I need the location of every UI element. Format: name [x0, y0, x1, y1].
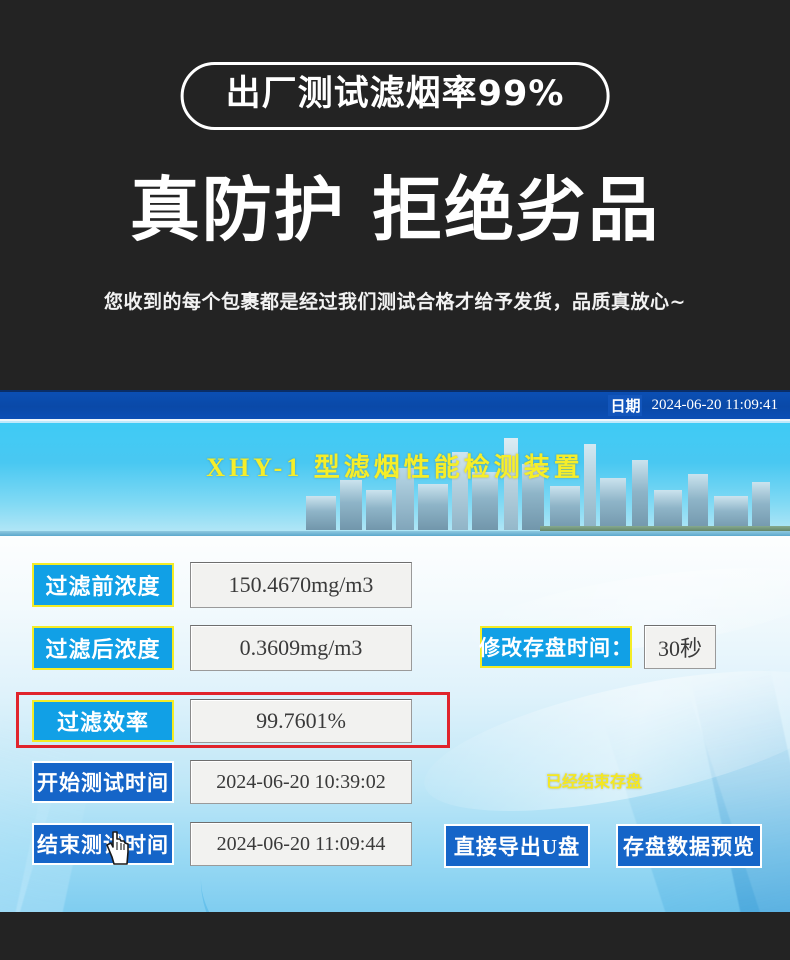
- value-test-end-time[interactable]: 2024-06-20 11:09:44: [190, 822, 412, 866]
- row-test-start-time: 开始测试时间 2024-06-20 10:39:02: [32, 760, 412, 804]
- status-message: 已经结束存盘: [546, 768, 642, 792]
- promo-headline: 真防护 拒绝劣品: [0, 172, 790, 249]
- row-test-end-time: 结束测试时间 2024-06-20 11:09:44: [32, 822, 412, 866]
- page-root: 出厂测试滤烟率99% 真防护 拒绝劣品 您收到的每个包裹都是经过我们测试合格才给…: [0, 0, 790, 960]
- date-label: 日期: [608, 395, 642, 416]
- value-post-filter-concentration[interactable]: 0.3609mg/m3: [190, 625, 412, 671]
- readout-panel: 过滤前浓度 150.4670mg/m3 过滤后浓度 0.3609mg/m3 过滤…: [0, 536, 790, 912]
- label-save-interval: 修改存盘时间：: [480, 626, 632, 668]
- promo-badge: 出厂测试滤烟率99%: [181, 62, 610, 130]
- app-title: XHY-1 型滤烟性能检测装置: [0, 447, 790, 484]
- preview-saved-data-button[interactable]: 存盘数据预览: [616, 824, 762, 868]
- label-test-end-time: 结束测试时间: [32, 823, 174, 865]
- row-save-interval: 修改存盘时间： 30秒: [480, 625, 716, 669]
- filter-efficiency-highlight: [16, 692, 450, 748]
- label-post-filter-concentration: 过滤后浓度: [32, 626, 174, 670]
- app-body: 过滤前浓度 150.4670mg/m3 过滤后浓度 0.3609mg/m3 过滤…: [0, 536, 790, 912]
- date-bar: 日期 2024-06-20 11:09:41: [0, 390, 790, 419]
- label-pre-filter-concentration: 过滤前浓度: [32, 563, 174, 607]
- date-value: 2024-06-20 11:09:41: [651, 397, 778, 414]
- value-test-start-time[interactable]: 2024-06-20 10:39:02: [190, 760, 412, 804]
- app-screenshot: 日期 2024-06-20 11:09:41: [0, 390, 790, 912]
- row-pre-filter-concentration: 过滤前浓度 150.4670mg/m3: [32, 562, 412, 608]
- export-usb-button[interactable]: 直接导出U盘: [444, 824, 590, 868]
- footer-filler: [0, 912, 790, 960]
- hand-pointer-cursor: [104, 830, 134, 870]
- value-pre-filter-concentration[interactable]: 150.4670mg/m3: [190, 562, 412, 608]
- promo-subline: 您收到的每个包裹都是经过我们测试合格才给予发货，品质真放心~: [0, 287, 790, 314]
- label-test-start-time: 开始测试时间: [32, 761, 174, 803]
- value-save-interval[interactable]: 30秒: [644, 625, 716, 669]
- app-banner: XHY-1 型滤烟性能检测装置: [0, 421, 790, 536]
- promo-section: 出厂测试滤烟率99% 真防护 拒绝劣品 您收到的每个包裹都是经过我们测试合格才给…: [0, 0, 790, 390]
- row-post-filter-concentration: 过滤后浓度 0.3609mg/m3: [32, 625, 412, 671]
